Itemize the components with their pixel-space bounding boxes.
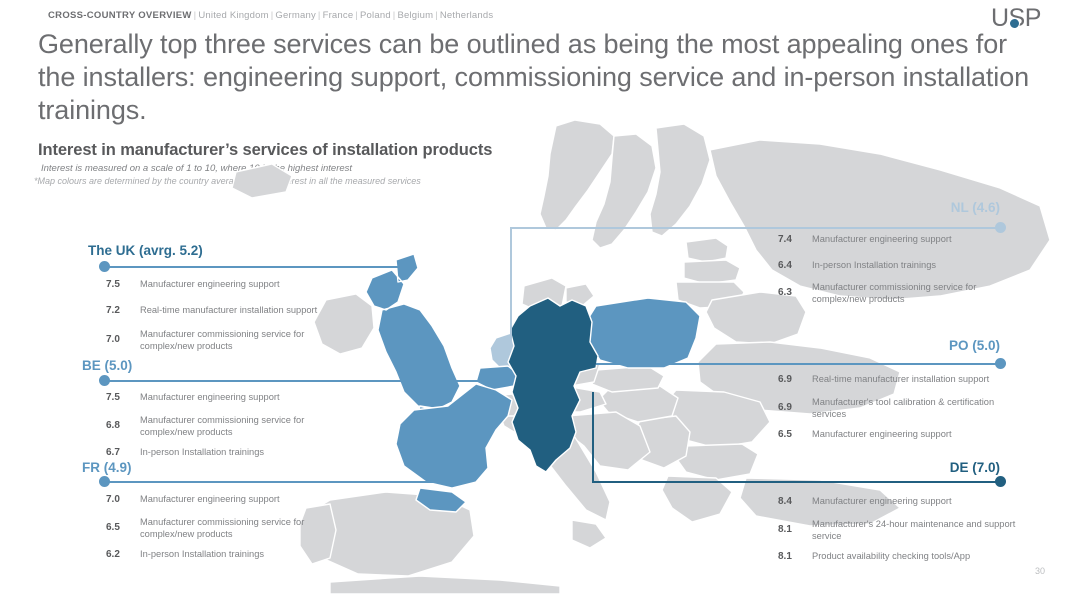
service-score: 7.2 — [106, 305, 140, 316]
map-country-bulgaria — [676, 444, 758, 480]
service-row: 6.8 Manufacturer commissioning service f… — [106, 415, 326, 438]
map-country-slovakia — [592, 366, 664, 392]
map-country-greece — [662, 476, 732, 522]
service-row: 8.1 Product availability checking tools/… — [778, 551, 1058, 563]
breadcrumb-item-poland: Poland — [360, 10, 391, 21]
service-score: 7.4 — [778, 234, 812, 245]
service-score: 6.4 — [778, 260, 812, 271]
service-label: Manufacturer engineering support — [812, 496, 952, 508]
service-score: 6.5 — [106, 517, 140, 533]
service-label: Manufacturer commissioning service for c… — [140, 517, 326, 540]
service-score: 6.2 — [106, 549, 140, 560]
service-label: Real-time manufacturer installation supp… — [140, 305, 317, 317]
service-score: 7.0 — [106, 494, 140, 505]
callout-title-po: PO (5.0) — [949, 338, 1000, 353]
service-row: 6.9 Manufacturer's tool calibration & ce… — [778, 397, 998, 420]
service-row: 6.4 In-person Installation trainings — [778, 260, 1058, 272]
service-label: Manufacturer commissioning service for c… — [812, 282, 998, 305]
service-score: 8.1 — [778, 551, 812, 562]
service-row: 7.2 Real-time manufacturer installation … — [106, 305, 406, 317]
callout-title-nl: NL (4.6) — [951, 200, 1000, 215]
service-row: 6.5 Manufacturer engineering support — [778, 429, 1058, 441]
service-score: 6.7 — [106, 447, 140, 458]
service-score: 6.8 — [106, 415, 140, 431]
breadcrumb-separator: | — [353, 10, 360, 21]
service-label: Manufacturer engineering support — [140, 494, 280, 506]
breadcrumb-item-belgium: Belgium — [397, 10, 433, 21]
callout-title-be: BE (5.0) — [82, 358, 132, 373]
breadcrumb-item-uk: United Kingdom — [198, 10, 268, 21]
map-country-north-africa — [330, 576, 560, 594]
breadcrumb-separator: | — [433, 10, 440, 21]
service-label: In-person Installation trainings — [812, 260, 936, 272]
breadcrumb-main: CROSS-COUNTRY OVERVIEW — [48, 10, 192, 21]
service-row: 7.0 Manufacturer commissioning service f… — [106, 329, 326, 352]
map-country-russia — [710, 140, 1050, 300]
service-row: 7.5 Manufacturer engineering support — [106, 392, 406, 404]
service-score: 8.4 — [778, 496, 812, 507]
service-row: 7.4 Manufacturer engineering support — [778, 234, 1058, 246]
service-row: 6.2 In-person Installation trainings — [106, 549, 406, 561]
service-label: Manufacturer commissioning service for c… — [140, 329, 326, 352]
breadcrumb-separator: | — [316, 10, 323, 21]
callout-title-de: DE (7.0) — [950, 460, 1000, 475]
service-score: 6.5 — [778, 429, 812, 440]
slide: CROSS-COUNTRY OVERVIEW|United Kingdom|Ge… — [0, 0, 1065, 594]
service-row: 8.4 Manufacturer engineering support — [778, 496, 1058, 508]
map-country-finland — [650, 124, 710, 236]
service-score: 6.3 — [778, 282, 812, 298]
service-score: 6.9 — [778, 374, 812, 385]
service-label: Manufacturer's tool calibration & certif… — [812, 397, 998, 420]
service-score: 7.5 — [106, 392, 140, 403]
service-row: 7.5 Manufacturer engineering support — [106, 279, 406, 291]
service-label: Manufacturer commissioning service for c… — [140, 415, 326, 438]
service-label: In-person Installation trainings — [140, 447, 264, 459]
callout-title-fr: FR (4.9) — [82, 460, 132, 475]
map-country-poland — [586, 298, 700, 368]
service-score: 7.5 — [106, 279, 140, 290]
breadcrumb-item-france: France — [323, 10, 354, 21]
service-label: Manufacturer engineering support — [140, 279, 280, 291]
service-score: 6.9 — [778, 397, 812, 413]
map-country-france — [396, 384, 512, 512]
service-label: Real-time manufacturer installation supp… — [812, 374, 989, 386]
callout-title-uk: The UK (avrg. 5.2) — [88, 243, 203, 258]
breadcrumb-item-netherlands: Netherlands — [440, 10, 493, 21]
service-label: Manufacturer engineering support — [812, 234, 952, 246]
service-row: 6.7 In-person Installation trainings — [106, 447, 406, 459]
map-country-iceland — [232, 164, 292, 198]
service-label: Product availability checking tools/App — [812, 551, 970, 563]
service-score: 8.1 — [778, 519, 812, 535]
service-row: 7.0 Manufacturer engineering support — [106, 494, 406, 506]
service-score: 7.0 — [106, 329, 140, 345]
service-row: 8.1 Manufacturer's 24-hour maintenance a… — [778, 519, 1018, 542]
service-label: Manufacturer's 24-hour maintenance and s… — [812, 519, 1018, 542]
breadcrumb: CROSS-COUNTRY OVERVIEW|United Kingdom|Ge… — [48, 10, 493, 21]
breadcrumb-item-germany: Germany — [275, 10, 315, 21]
map-country-italy-south — [572, 520, 606, 548]
page-number: 30 — [1035, 566, 1045, 576]
service-label: In-person Installation trainings — [140, 549, 264, 561]
map-country-latvia — [684, 260, 740, 284]
map-country-estonia — [686, 238, 728, 262]
service-row: 6.5 Manufacturer commissioning service f… — [106, 517, 326, 540]
service-row: 6.3 Manufacturer commissioning service f… — [778, 282, 998, 305]
service-label: Manufacturer engineering support — [140, 392, 280, 404]
service-label: Manufacturer engineering support — [812, 429, 952, 441]
service-row: 6.9 Real-time manufacturer installation … — [778, 374, 1058, 386]
